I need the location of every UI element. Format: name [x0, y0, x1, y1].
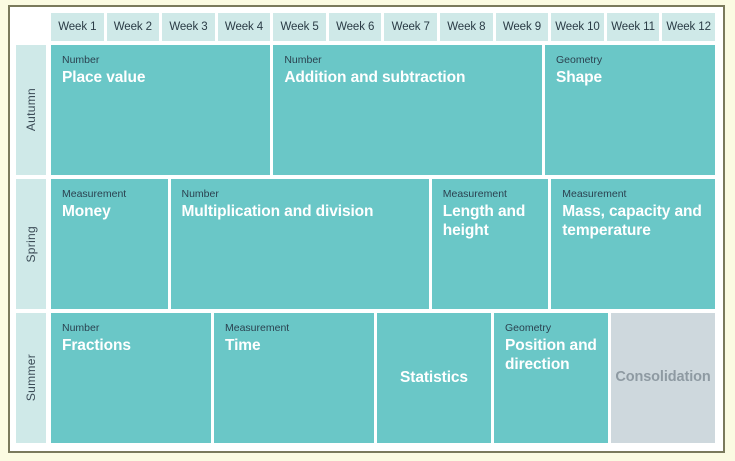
term-row: SummerNumberFractionsMeasurementTimeStat…: [16, 313, 715, 443]
topic-category: Measurement: [562, 188, 626, 201]
topic-title: Multiplication and division: [182, 203, 374, 222]
topic-block[interactable]: NumberAddition and subtraction: [273, 45, 542, 175]
topic-block[interactable]: MeasurementTime: [214, 313, 374, 443]
term-label-text: Spring: [24, 226, 38, 263]
week-header-cell: Week 4: [218, 13, 271, 41]
week-header-cell: Week 10: [551, 13, 604, 41]
term-row: AutumnNumberPlace valueNumberAddition an…: [16, 45, 715, 175]
curriculum-grid: Week 1Week 2Week 3Week 4Week 5Week 6Week…: [10, 7, 723, 451]
topic-block[interactable]: Statistics: [377, 313, 491, 443]
topic-title: Fractions: [62, 337, 131, 356]
week-header-cell: Week 2: [107, 13, 160, 41]
term-blocks: MeasurementMoneyNumberMultiplication and…: [51, 179, 715, 309]
topic-block[interactable]: MeasurementLength and height: [432, 179, 549, 309]
term-label-spring: Spring: [16, 179, 46, 309]
topic-category: Geometry: [505, 322, 551, 335]
term-label-autumn: Autumn: [16, 45, 46, 175]
topic-category: Number: [182, 188, 219, 201]
week-header-row: Week 1Week 2Week 3Week 4Week 5Week 6Week…: [16, 13, 715, 41]
topic-category: Measurement: [225, 322, 289, 335]
topic-block[interactable]: MeasurementMass, capacity and temperatur…: [551, 179, 715, 309]
term-rows: AutumnNumberPlace valueNumberAddition an…: [16, 45, 715, 443]
topic-category: Number: [62, 322, 99, 335]
term-label-text: Autumn: [24, 88, 38, 131]
topic-title: Addition and subtraction: [284, 69, 465, 88]
term-row: SpringMeasurementMoneyNumberMultiplicati…: [16, 179, 715, 309]
week-header-cell: Week 1: [51, 13, 104, 41]
topic-title: Statistics: [388, 369, 480, 388]
topic-block[interactable]: NumberMultiplication and division: [171, 179, 429, 309]
curriculum-overview-frame: Week 1Week 2Week 3Week 4Week 5Week 6Week…: [8, 5, 725, 453]
week-header-cell: Week 12: [662, 13, 715, 41]
week-header-cell: Week 9: [496, 13, 549, 41]
topic-title: Time: [225, 337, 261, 356]
term-label-text: Summer: [24, 354, 38, 401]
topic-title: Length and height: [443, 203, 538, 241]
term-blocks: NumberPlace valueNumberAddition and subt…: [51, 45, 715, 175]
topic-block[interactable]: GeometryShape: [545, 45, 715, 175]
week-header-cells: Week 1Week 2Week 3Week 4Week 5Week 6Week…: [51, 13, 715, 41]
topic-title: Consolidation: [615, 369, 710, 387]
topic-category: Measurement: [62, 188, 126, 201]
grid-corner-cell: [16, 13, 46, 41]
topic-category: Number: [284, 54, 321, 67]
topic-title: Shape: [556, 69, 602, 88]
week-header-cell: Week 5: [273, 13, 326, 41]
term-blocks: NumberFractionsMeasurementTimeStatistics…: [51, 313, 715, 443]
term-label-summer: Summer: [16, 313, 46, 443]
topic-block[interactable]: NumberPlace value: [51, 45, 270, 175]
week-header-cell: Week 6: [329, 13, 382, 41]
week-header-cell: Week 11: [607, 13, 660, 41]
week-header-cell: Week 3: [162, 13, 215, 41]
topic-block[interactable]: GeometryPosition and direction: [494, 313, 608, 443]
topic-category: Number: [62, 54, 99, 67]
topic-title: Money: [62, 203, 111, 222]
topic-category: Measurement: [443, 188, 507, 201]
topic-title: Position and direction: [505, 337, 597, 375]
week-header-cell: Week 7: [384, 13, 437, 41]
topic-title: Mass, capacity and temperature: [562, 203, 704, 241]
week-header-cell: Week 8: [440, 13, 493, 41]
topic-block[interactable]: Consolidation: [611, 313, 715, 443]
topic-title: Place value: [62, 69, 145, 88]
topic-block[interactable]: MeasurementMoney: [51, 179, 168, 309]
topic-block[interactable]: NumberFractions: [51, 313, 211, 443]
topic-category: Geometry: [556, 54, 602, 67]
